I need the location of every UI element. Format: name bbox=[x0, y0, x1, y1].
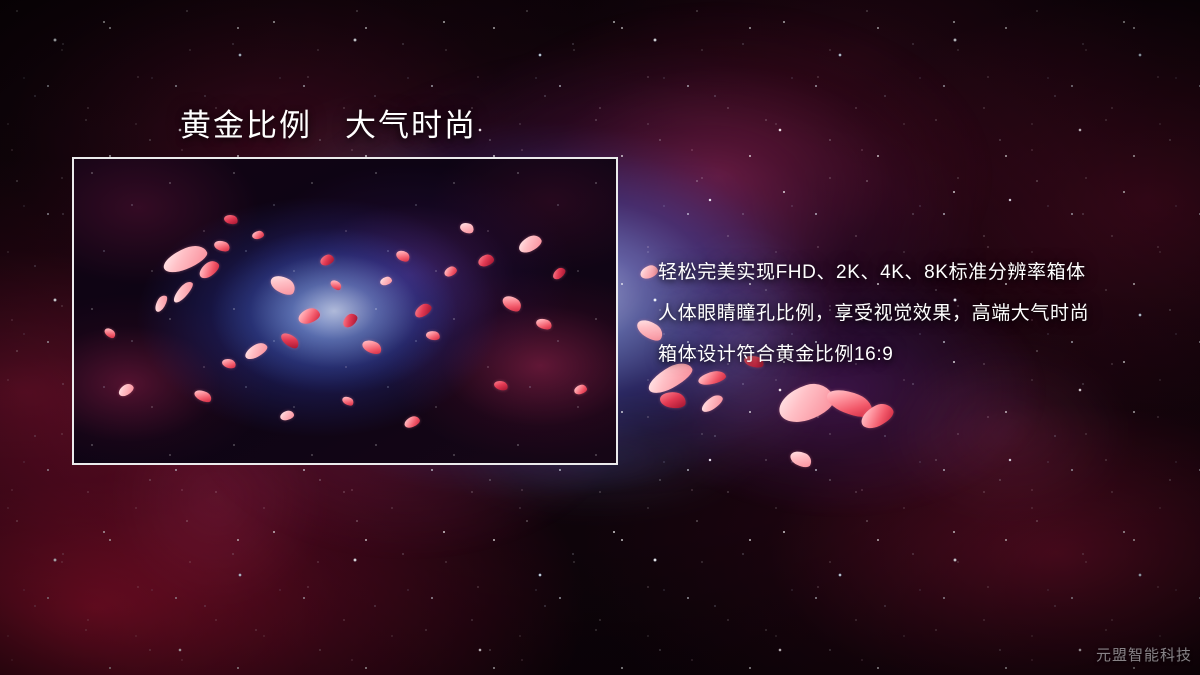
petal-shape bbox=[638, 263, 659, 280]
petal-shape bbox=[774, 378, 838, 428]
body-text-block: 轻松完美实现FHD、2K、4K、8K标准分辨率箱体 人体眼睛瞳孔比例，享受视觉效… bbox=[658, 252, 1158, 375]
page-title: 黄金比例 大气时尚 bbox=[180, 100, 477, 145]
body-line: 箱体设计符合黄金比例16:9 bbox=[658, 334, 1158, 375]
petal-shape bbox=[788, 448, 814, 470]
body-line: 人体眼睛瞳孔比例，享受视觉效果，高端大气时尚 bbox=[658, 293, 1158, 334]
petal-shape bbox=[699, 392, 725, 415]
watermark: 元盟智能科技 bbox=[1096, 644, 1192, 665]
framed-display-panel bbox=[72, 157, 618, 465]
slide-canvas: 黄金比例 大气时尚 轻松完美实现FHD、2K、4K、8K标准分辨率箱体 人体眼睛… bbox=[0, 0, 1200, 675]
frame-inner-image bbox=[74, 159, 616, 463]
body-line: 轻松完美实现FHD、2K、4K、8K标准分辨率箱体 bbox=[658, 252, 1158, 293]
petal-shape bbox=[659, 390, 687, 410]
